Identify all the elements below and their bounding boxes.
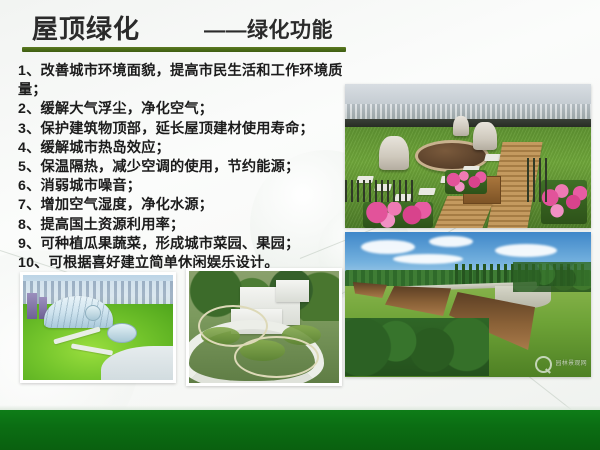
photo-pink-flower-bed bbox=[445, 170, 487, 194]
photo-cloud bbox=[393, 254, 463, 264]
benefits-list: 1、改善城市环境面貌，提高市民生活和工作环境质量； 2、缓解大气浮尘，净化空气；… bbox=[18, 62, 353, 273]
list-item: 9、可种植瓜果蔬菜，形成城市菜园、果园； bbox=[18, 235, 353, 254]
photo-garden-fence bbox=[345, 180, 415, 202]
photo-garden-path bbox=[234, 336, 319, 378]
photo-pink-flower-bed bbox=[363, 202, 433, 228]
photo-cloud bbox=[495, 244, 557, 257]
list-item: 7、增加空气湿度，净化水源； bbox=[18, 196, 353, 215]
photo-stone-urn-back bbox=[453, 116, 469, 136]
photo-tree-mass bbox=[513, 262, 591, 292]
photo-garden-fence bbox=[527, 158, 549, 202]
photo-stone-urn-right bbox=[473, 122, 497, 150]
page-title: 屋顶绿化 bbox=[32, 12, 140, 46]
photo-cloud bbox=[361, 240, 415, 254]
list-item: 8、提高国土资源利用率； bbox=[18, 216, 353, 235]
title-underline-rule bbox=[22, 47, 346, 52]
watermark-label: 园林景观网 bbox=[555, 361, 587, 368]
photo-stone-urn-left bbox=[379, 136, 409, 170]
slide-title-block: 屋顶绿化 ——绿化功能 bbox=[22, 12, 352, 54]
bottom-green-band bbox=[0, 410, 600, 450]
photo-dome-rooftop bbox=[20, 272, 176, 383]
photo-circular-tank bbox=[85, 305, 101, 321]
photo-watermark: 园林景观网 bbox=[535, 356, 587, 373]
photo-landscape-render: 园林景观网 bbox=[345, 232, 591, 377]
list-item: 4、缓解城市热岛效应； bbox=[18, 139, 353, 158]
photo-stepping-stone bbox=[418, 188, 436, 195]
slide-canvas: 屋顶绿化 ——绿化功能 1、改善城市环境面貌，提高市民生活和工作环境质量； 2、… bbox=[0, 0, 600, 450]
list-item: 3、保护建筑物顶部，延长屋顶建材使用寿命； bbox=[18, 120, 353, 139]
photo-building-block bbox=[276, 280, 309, 302]
watermark-logo-icon bbox=[535, 356, 552, 373]
list-item: 6、消弱城市噪音； bbox=[18, 177, 353, 196]
list-item: 5、保温隔热，减少空调的使用，节约能源； bbox=[18, 158, 353, 177]
photo-rooftop-garden bbox=[345, 84, 591, 228]
page-subtitle: ——绿化功能 bbox=[204, 16, 333, 46]
photo-terrace-building bbox=[186, 268, 342, 386]
list-item: 1、改善城市环境面貌，提高市民生活和工作环境质量； bbox=[18, 62, 353, 100]
photo-cloud bbox=[429, 236, 473, 247]
photo-circular-tank bbox=[107, 323, 137, 343]
photo-shrub-mass bbox=[345, 318, 489, 376]
photo-tower-building bbox=[27, 293, 37, 319]
list-item: 2、缓解大气浮尘，净化空气； bbox=[18, 100, 353, 119]
